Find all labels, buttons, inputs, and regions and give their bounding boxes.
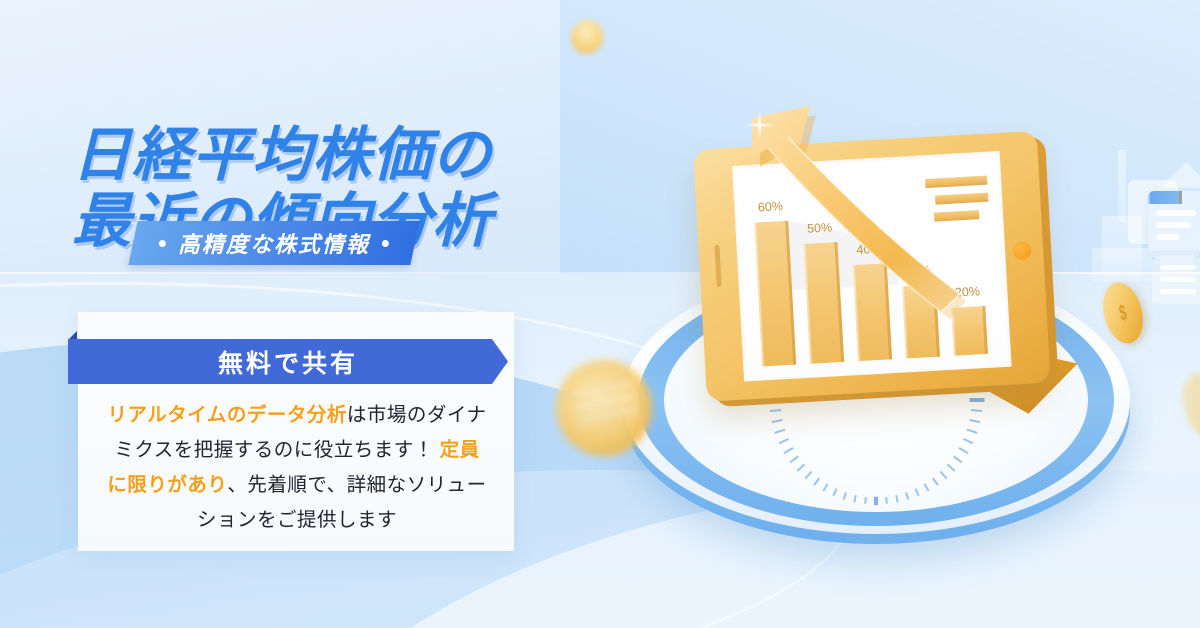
hero-banner: 60%50%40%30%20% 日経平均株価の 最近の傾向分析	[0, 0, 1200, 628]
dial-tick	[832, 488, 837, 496]
ghost-document-icon-2	[1152, 258, 1200, 304]
chart-bar-label: 30%	[905, 263, 931, 278]
document-card-header	[1148, 191, 1182, 204]
dial-tick	[970, 398, 985, 402]
tablet-home-button	[1013, 241, 1032, 260]
document-card-line	[1156, 222, 1191, 228]
dial-tick	[940, 471, 948, 479]
chart-bar	[803, 242, 844, 364]
dial-tick	[843, 492, 847, 500]
dial-tick	[967, 429, 978, 434]
body-highlight-1: リアルタイムのデータ分析	[107, 404, 346, 426]
dial-tick	[823, 483, 829, 491]
dial-tick	[805, 471, 813, 479]
tablet-frame: 60%50%40%30%20%	[693, 131, 1051, 402]
dial-tick	[885, 497, 888, 504]
dial-tick	[905, 492, 909, 500]
sparkle-icon	[744, 110, 774, 140]
chart-bar	[754, 221, 796, 367]
bullet-dot-right-icon	[382, 240, 389, 247]
dial-tick	[932, 477, 939, 485]
chart-bar-item: 40%	[852, 263, 893, 361]
dial-tick	[778, 438, 788, 444]
dial-tick	[963, 438, 973, 444]
document-card-line	[1156, 234, 1180, 240]
page-title-line-1: 日経平均株価の	[72, 122, 492, 188]
dial-tick	[953, 456, 962, 464]
tablet-device: 60%50%40%30%20%	[693, 130, 1059, 407]
subtitle-badge: 高精度な株式情報	[128, 221, 419, 265]
dial-tick	[874, 497, 878, 505]
dial-tick	[775, 429, 786, 434]
dial-tick	[924, 483, 930, 491]
page-title: 日経平均株価の 最近の傾向分析	[72, 56, 592, 320]
dial-tick	[895, 495, 898, 502]
share-ribbon-label: 無料で共有	[218, 344, 358, 380]
chart-bar-item: 20%	[950, 306, 989, 356]
chart-bar-label: 40%	[856, 242, 882, 257]
dial-tick	[864, 497, 867, 504]
coin-icon-left	[556, 360, 652, 456]
share-ribbon[interactable]: 無料で共有	[68, 339, 508, 384]
bullet-dot-left-icon	[159, 240, 166, 247]
chart-bar	[951, 306, 988, 356]
dial-tick	[969, 419, 980, 423]
chart-bar-label: 20%	[955, 284, 981, 299]
bar-chart: 60%50%40%30%20%	[732, 151, 1012, 382]
tower-antenna-icon	[1118, 150, 1126, 222]
dial-tick	[958, 447, 968, 454]
chart-bar-item: 30%	[901, 285, 941, 359]
dial-tick	[971, 409, 982, 412]
chart-bars: 60%50%40%30%20%	[751, 174, 993, 367]
chart-bar-item: 50%	[802, 242, 845, 364]
dial-tick	[853, 495, 856, 502]
chart-bar-item: 60%	[753, 221, 797, 367]
dial-tick	[947, 464, 956, 472]
dial-tick	[772, 419, 783, 423]
dial-tick	[770, 409, 781, 412]
dial-tick	[790, 456, 799, 464]
subtitle-badge-label: 高精度な株式情報	[178, 227, 370, 259]
chart-bar-label: 60%	[757, 199, 783, 214]
dial-tick	[915, 488, 920, 496]
dial-tick	[797, 464, 806, 472]
document-card-icon	[1148, 191, 1200, 251]
dial-tick	[813, 477, 820, 485]
chart-bar-label: 50%	[807, 220, 833, 235]
chart-bar	[902, 285, 940, 359]
document-card-line	[1156, 210, 1196, 216]
info-card-body: リアルタイムのデータ分析は市場のダイナミクスを把握するのに役立ちます！ 定員に限…	[106, 398, 488, 538]
body-text-2: 、先着順で、詳細なソリューションをご提供します	[197, 474, 487, 531]
tablet-speaker-icon	[714, 245, 721, 287]
dial-tick	[784, 447, 794, 454]
chart-bar	[853, 263, 892, 361]
